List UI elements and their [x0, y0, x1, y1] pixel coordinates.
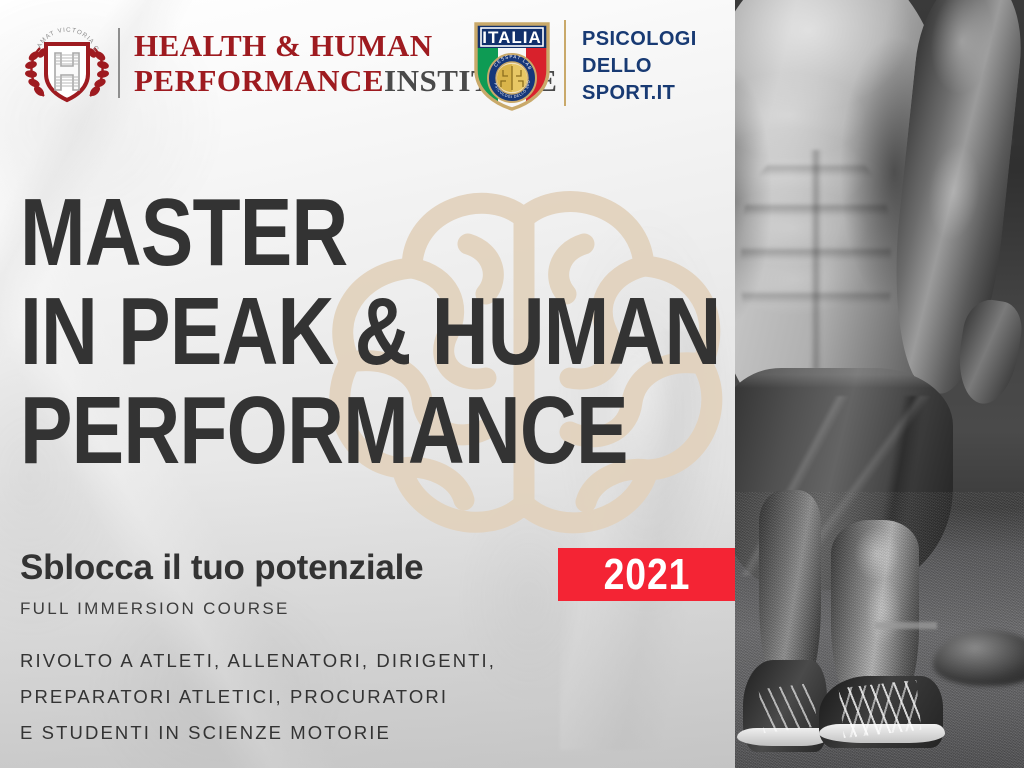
audience-line-1: RIVOLTO A ATLETI, ALLENATORI, DIRIGENTI,: [20, 643, 496, 679]
year-badge: 2021: [558, 548, 735, 601]
tagline-text: Sblocca il tuo potenziale: [20, 548, 423, 588]
year-badge-text: 2021: [603, 550, 690, 600]
poster-header: AMAT VICTORIA CURAM HEALTH & HUMAN PERFO…: [0, 0, 735, 130]
headline-line-2: IN PEAK & HUMAN: [20, 285, 594, 378]
headline-line-1: MASTER: [20, 186, 594, 279]
italia-label: ITALIA: [482, 28, 542, 47]
tagline-row: Sblocca il tuo potenziale 2021: [20, 546, 735, 604]
shield-crest-icon: AMAT VICTORIA CURAM: [20, 20, 114, 106]
barbell-blur: [875, 622, 937, 629]
front-sneaker-laces: [839, 680, 922, 738]
italia-badge-icon: ITALIA CESSPAT LAB: [470, 18, 554, 112]
partner-logo: ITALIA CESSPAT LAB: [470, 18, 697, 112]
athlete-photo: [735, 0, 1024, 768]
logo-divider: [118, 28, 120, 98]
course-type-text: FULL IMMERSION COURSE: [20, 599, 290, 619]
athlete-abs: [741, 150, 891, 370]
audience-line-2: PREPARATORI ATLETICI, PROCURATORI: [20, 679, 496, 715]
partner-name: PSICOLOGI DELLO SPORT.IT: [582, 18, 697, 106]
content-panel: AMAT VICTORIA CURAM HEALTH & HUMAN PERFO…: [0, 0, 735, 768]
partner-name-line2: DELLO: [582, 53, 697, 80]
audience-block: RIVOLTO A ATLETI, ALLENATORI, DIRIGENTI,…: [20, 643, 496, 751]
headline-block: MASTER IN PEAK & HUMAN PERFORMANCE: [20, 186, 720, 477]
audience-line-3: E STUDENTI IN SCIENZE MOTORIE: [20, 715, 496, 751]
headline-line-3: PERFORMANCE: [20, 384, 594, 477]
partner-name-line1: PSICOLOGI: [582, 26, 697, 53]
partner-name-line3: SPORT.IT: [582, 80, 697, 107]
back-sneaker-laces: [759, 683, 818, 733]
poster-canvas: AMAT VICTORIA CURAM HEALTH & HUMAN PERFO…: [0, 0, 1024, 768]
institute-name-performance: PERFORMANCE: [134, 63, 384, 98]
partner-divider: [564, 20, 566, 106]
